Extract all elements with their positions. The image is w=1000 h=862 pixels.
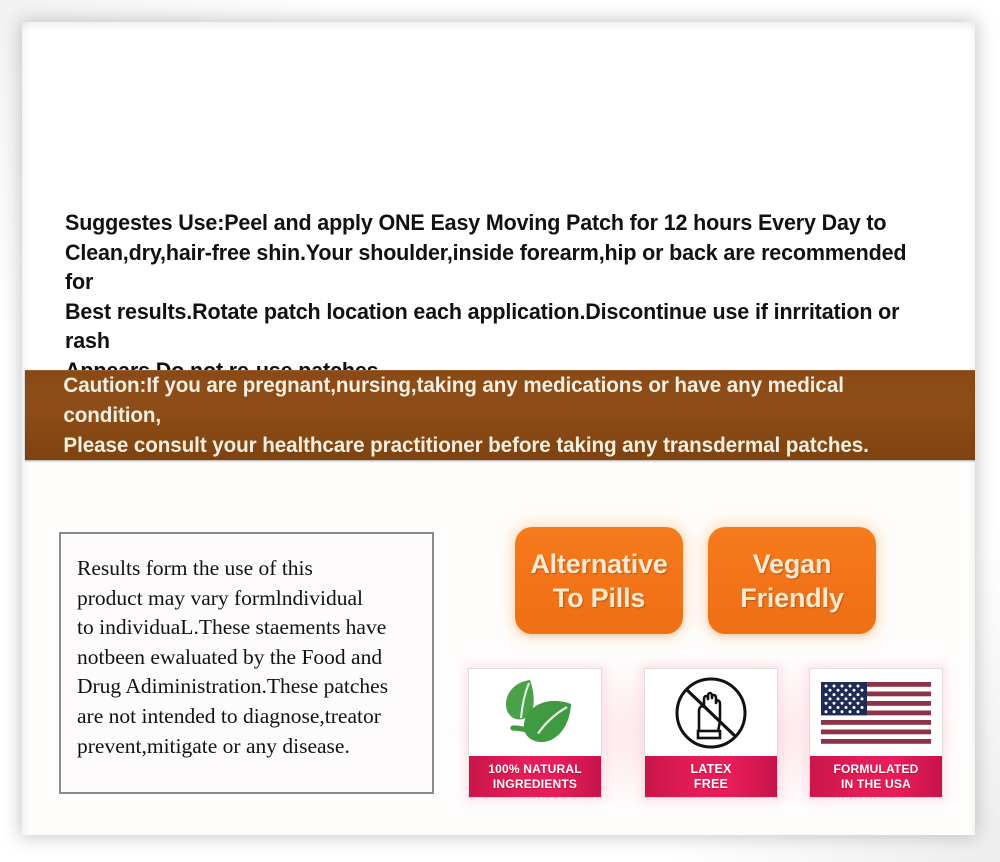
certification-caption: FORMULATED IN THE USA [810,756,942,797]
badge-line-1: Alternative [530,547,667,581]
certification-formulated-in-usa: FORMULATED IN THE USA [809,668,943,798]
usa-flag-icon [810,669,942,756]
label-card: Suggestes Use:Peel and apply ONE Easy Mo… [22,22,975,835]
certification-caption: 100% NATURAL INGREDIENTS [469,756,601,797]
caption-line-1: 100% NATURAL [488,762,582,777]
caption-line-2: IN THE USA [841,777,911,792]
disclaimer-box: Results form the use of this product may… [59,532,434,794]
disclaimer-text: Results form the use of this product may… [61,534,432,761]
badge-alternative-to-pills: Alternative To Pills [515,527,683,634]
suggested-use-text: Suggestes Use:Peel and apply ONE Easy Mo… [65,208,925,385]
caption-line-1: LATEX [690,762,731,777]
no-latex-glove-icon [645,669,777,756]
caption-line-2: INGREDIENTS [493,777,577,792]
caution-text: Caution:If you are pregnant,nursing,taki… [25,370,940,460]
lower-section: Results form the use of this product may… [22,460,975,835]
leaf-icon [469,669,601,756]
certification-latex-free: LATEX FREE [644,668,778,798]
badge-vegan-friendly: Vegan Friendly [708,527,876,634]
caption-line-1: FORMULATED [833,762,918,777]
product-label-image: Suggestes Use:Peel and apply ONE Easy Mo… [0,0,1000,862]
caption-line-2: FREE [694,777,728,792]
badge-line-2: Friendly [740,581,843,615]
certification-caption: LATEX FREE [645,756,777,797]
badge-line-1: Vegan [753,547,832,581]
badge-line-2: To Pills [553,581,645,615]
caution-banner: Caution:If you are pregnant,nursing,taki… [25,370,975,460]
certification-natural-ingredients: 100% NATURAL INGREDIENTS [468,668,602,798]
